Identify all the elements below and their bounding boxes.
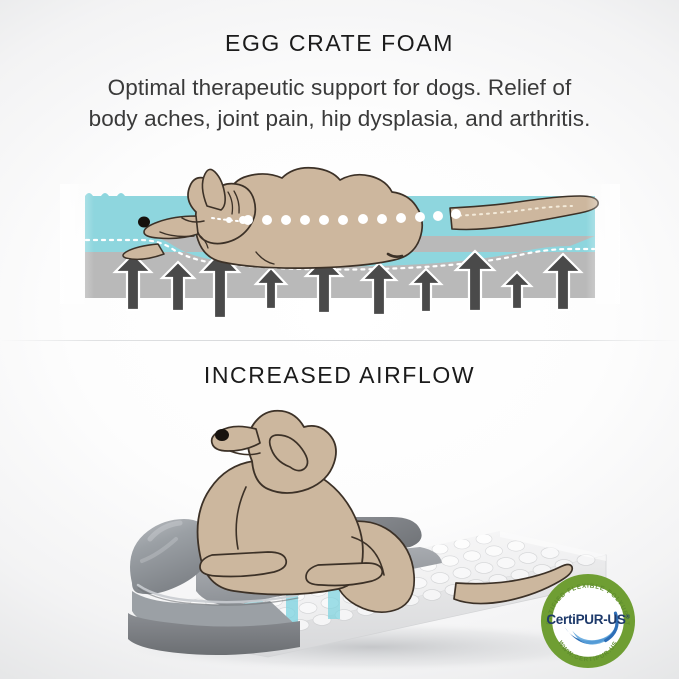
fade-right xyxy=(586,184,620,304)
dog-nose xyxy=(138,217,150,228)
spine-dot xyxy=(319,215,329,225)
dog-hind-paw xyxy=(306,563,382,586)
panel-egg-crate-foam: EGG CRATE FOAM Optimal therapeutic suppo… xyxy=(0,0,679,340)
fade-left xyxy=(60,184,94,304)
dog-nose xyxy=(215,429,229,441)
dog-front-paw xyxy=(200,552,286,577)
certipur-us-badge: CONTAINS CERTIFIED FLEXIBLE POLYURETHANE… xyxy=(539,572,637,670)
dog-ear xyxy=(202,169,225,210)
dog-illustration-resting xyxy=(198,411,573,612)
panel-divider xyxy=(0,340,679,341)
spine-dot xyxy=(239,216,247,224)
badge-wordmark: CertiPUR-US® xyxy=(539,612,637,627)
spine-dot xyxy=(433,211,443,221)
page-title-egg-crate-foam: EGG CRATE FOAM xyxy=(0,30,679,57)
spine-dot xyxy=(226,217,232,223)
illustration-foam-cross-section xyxy=(0,160,679,320)
spine-dot xyxy=(377,214,387,224)
badge-wordmark-text: CertiPUR-US xyxy=(546,612,625,627)
page-title-increased-airflow: INCREASED AIRFLOW xyxy=(0,362,679,389)
spine-dot xyxy=(281,215,291,225)
spine-dot xyxy=(338,215,348,225)
product-infographic: EGG CRATE FOAM Optimal therapeutic suppo… xyxy=(0,0,679,679)
subtitle-line-1: Optimal therapeutic support for dogs. Re… xyxy=(28,72,651,103)
badge-trademark-symbol: ® xyxy=(626,615,630,621)
subtitle-line-2: body aches, joint pain, hip dysplasia, a… xyxy=(28,103,651,134)
spine-dot xyxy=(262,215,272,225)
spine-dot xyxy=(415,212,425,222)
subtitle-description: Optimal therapeutic support for dogs. Re… xyxy=(28,72,651,134)
spine-dot xyxy=(396,213,406,223)
spine-dot xyxy=(451,209,461,219)
spine-dot xyxy=(300,215,310,225)
spine-dot xyxy=(358,214,368,224)
